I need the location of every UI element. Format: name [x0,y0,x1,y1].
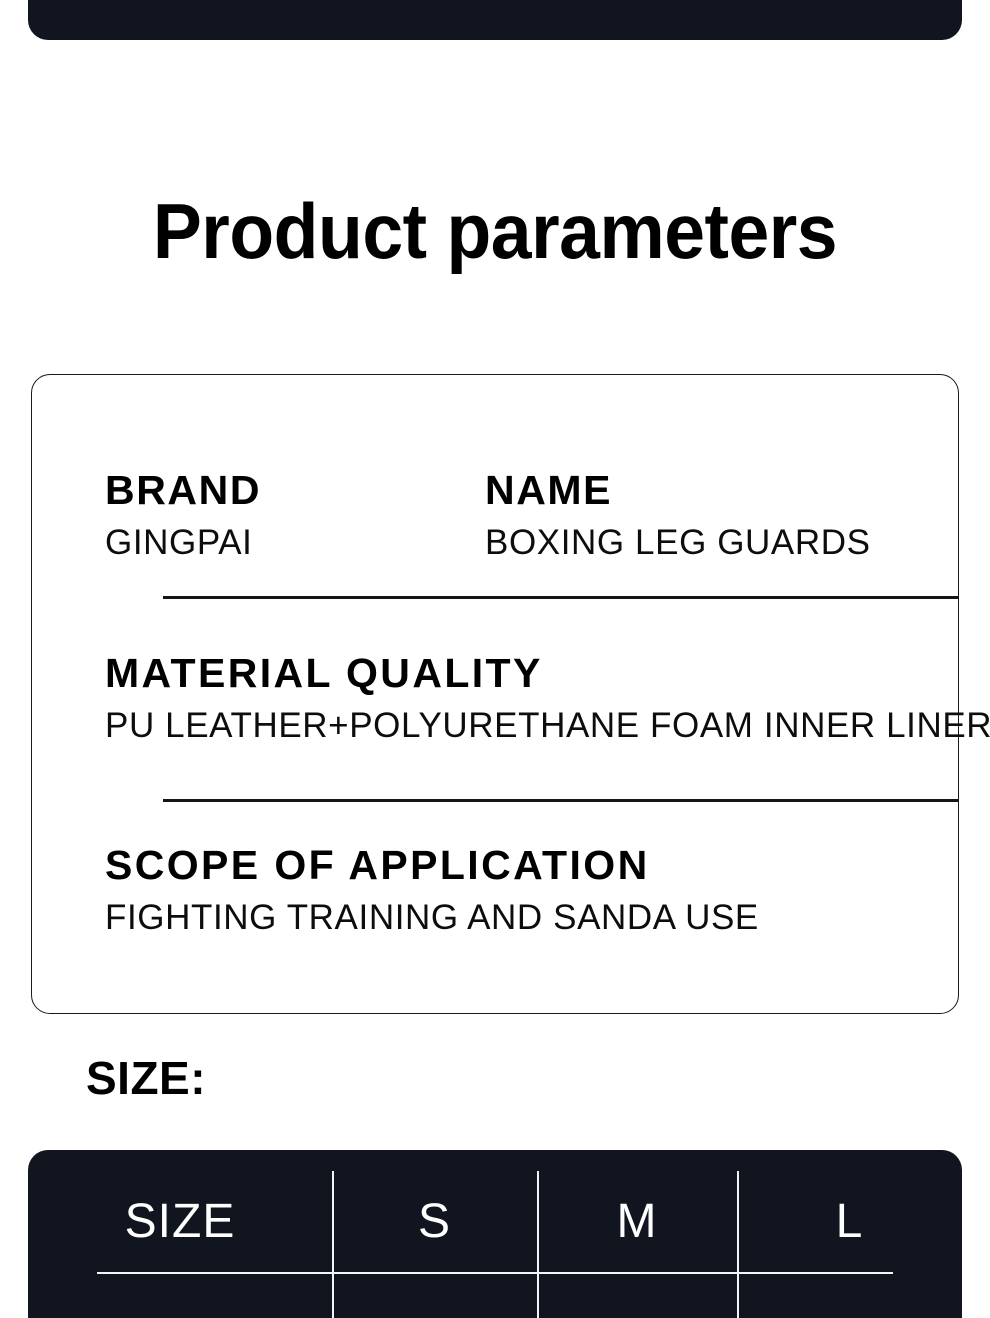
card-divider-1 [163,596,959,599]
size-table-column-divider-1 [332,1171,334,1318]
scope-of-application-field: SCOPE OF APPLICATION FIGHTING TRAINING A… [105,842,965,938]
top-banner [28,0,962,40]
size-table: SIZE S M L [28,1150,962,1318]
material-quality-field: MATERIAL QUALITY PU LEATHER+POLYURETHANE… [105,650,965,746]
size-table-cell-small: S [332,1194,537,1250]
size-table-header-divider [97,1272,893,1274]
scope-of-application-label: SCOPE OF APPLICATION [105,842,965,888]
name-field: NAME BOXING LEG GUARDS [485,467,945,563]
brand-name-row: BRAND GINGPAI NAME BOXING LEG GUARDS [105,467,945,563]
size-table-header-row: SIZE S M L [28,1171,962,1272]
product-parameters-card: BRAND GINGPAI NAME BOXING LEG GUARDS MAT… [31,374,959,1014]
brand-field: BRAND GINGPAI [105,467,485,563]
size-table-cell-large: L [737,1194,962,1250]
size-heading: SIZE: [86,1050,206,1106]
material-quality-value: PU LEATHER+POLYURETHANE FOAM INNER LINER [105,706,965,746]
scope-of-application-value: FIGHTING TRAINING AND SANDA USE [105,898,965,938]
brand-label: BRAND [105,467,485,513]
size-table-column-divider-3 [737,1171,739,1318]
spec-card-inner: BRAND GINGPAI NAME BOXING LEG GUARDS MAT… [90,375,918,1013]
name-label: NAME [485,467,945,513]
size-table-cell-size: SIZE [28,1194,332,1250]
size-table-column-divider-2 [537,1171,539,1318]
card-divider-2 [163,799,959,802]
page-title: Product parameters [30,185,961,277]
size-table-cell-medium: M [537,1194,737,1250]
name-value: BOXING LEG GUARDS [485,523,945,563]
material-quality-label: MATERIAL QUALITY [105,650,965,696]
brand-value: GINGPAI [105,523,485,563]
